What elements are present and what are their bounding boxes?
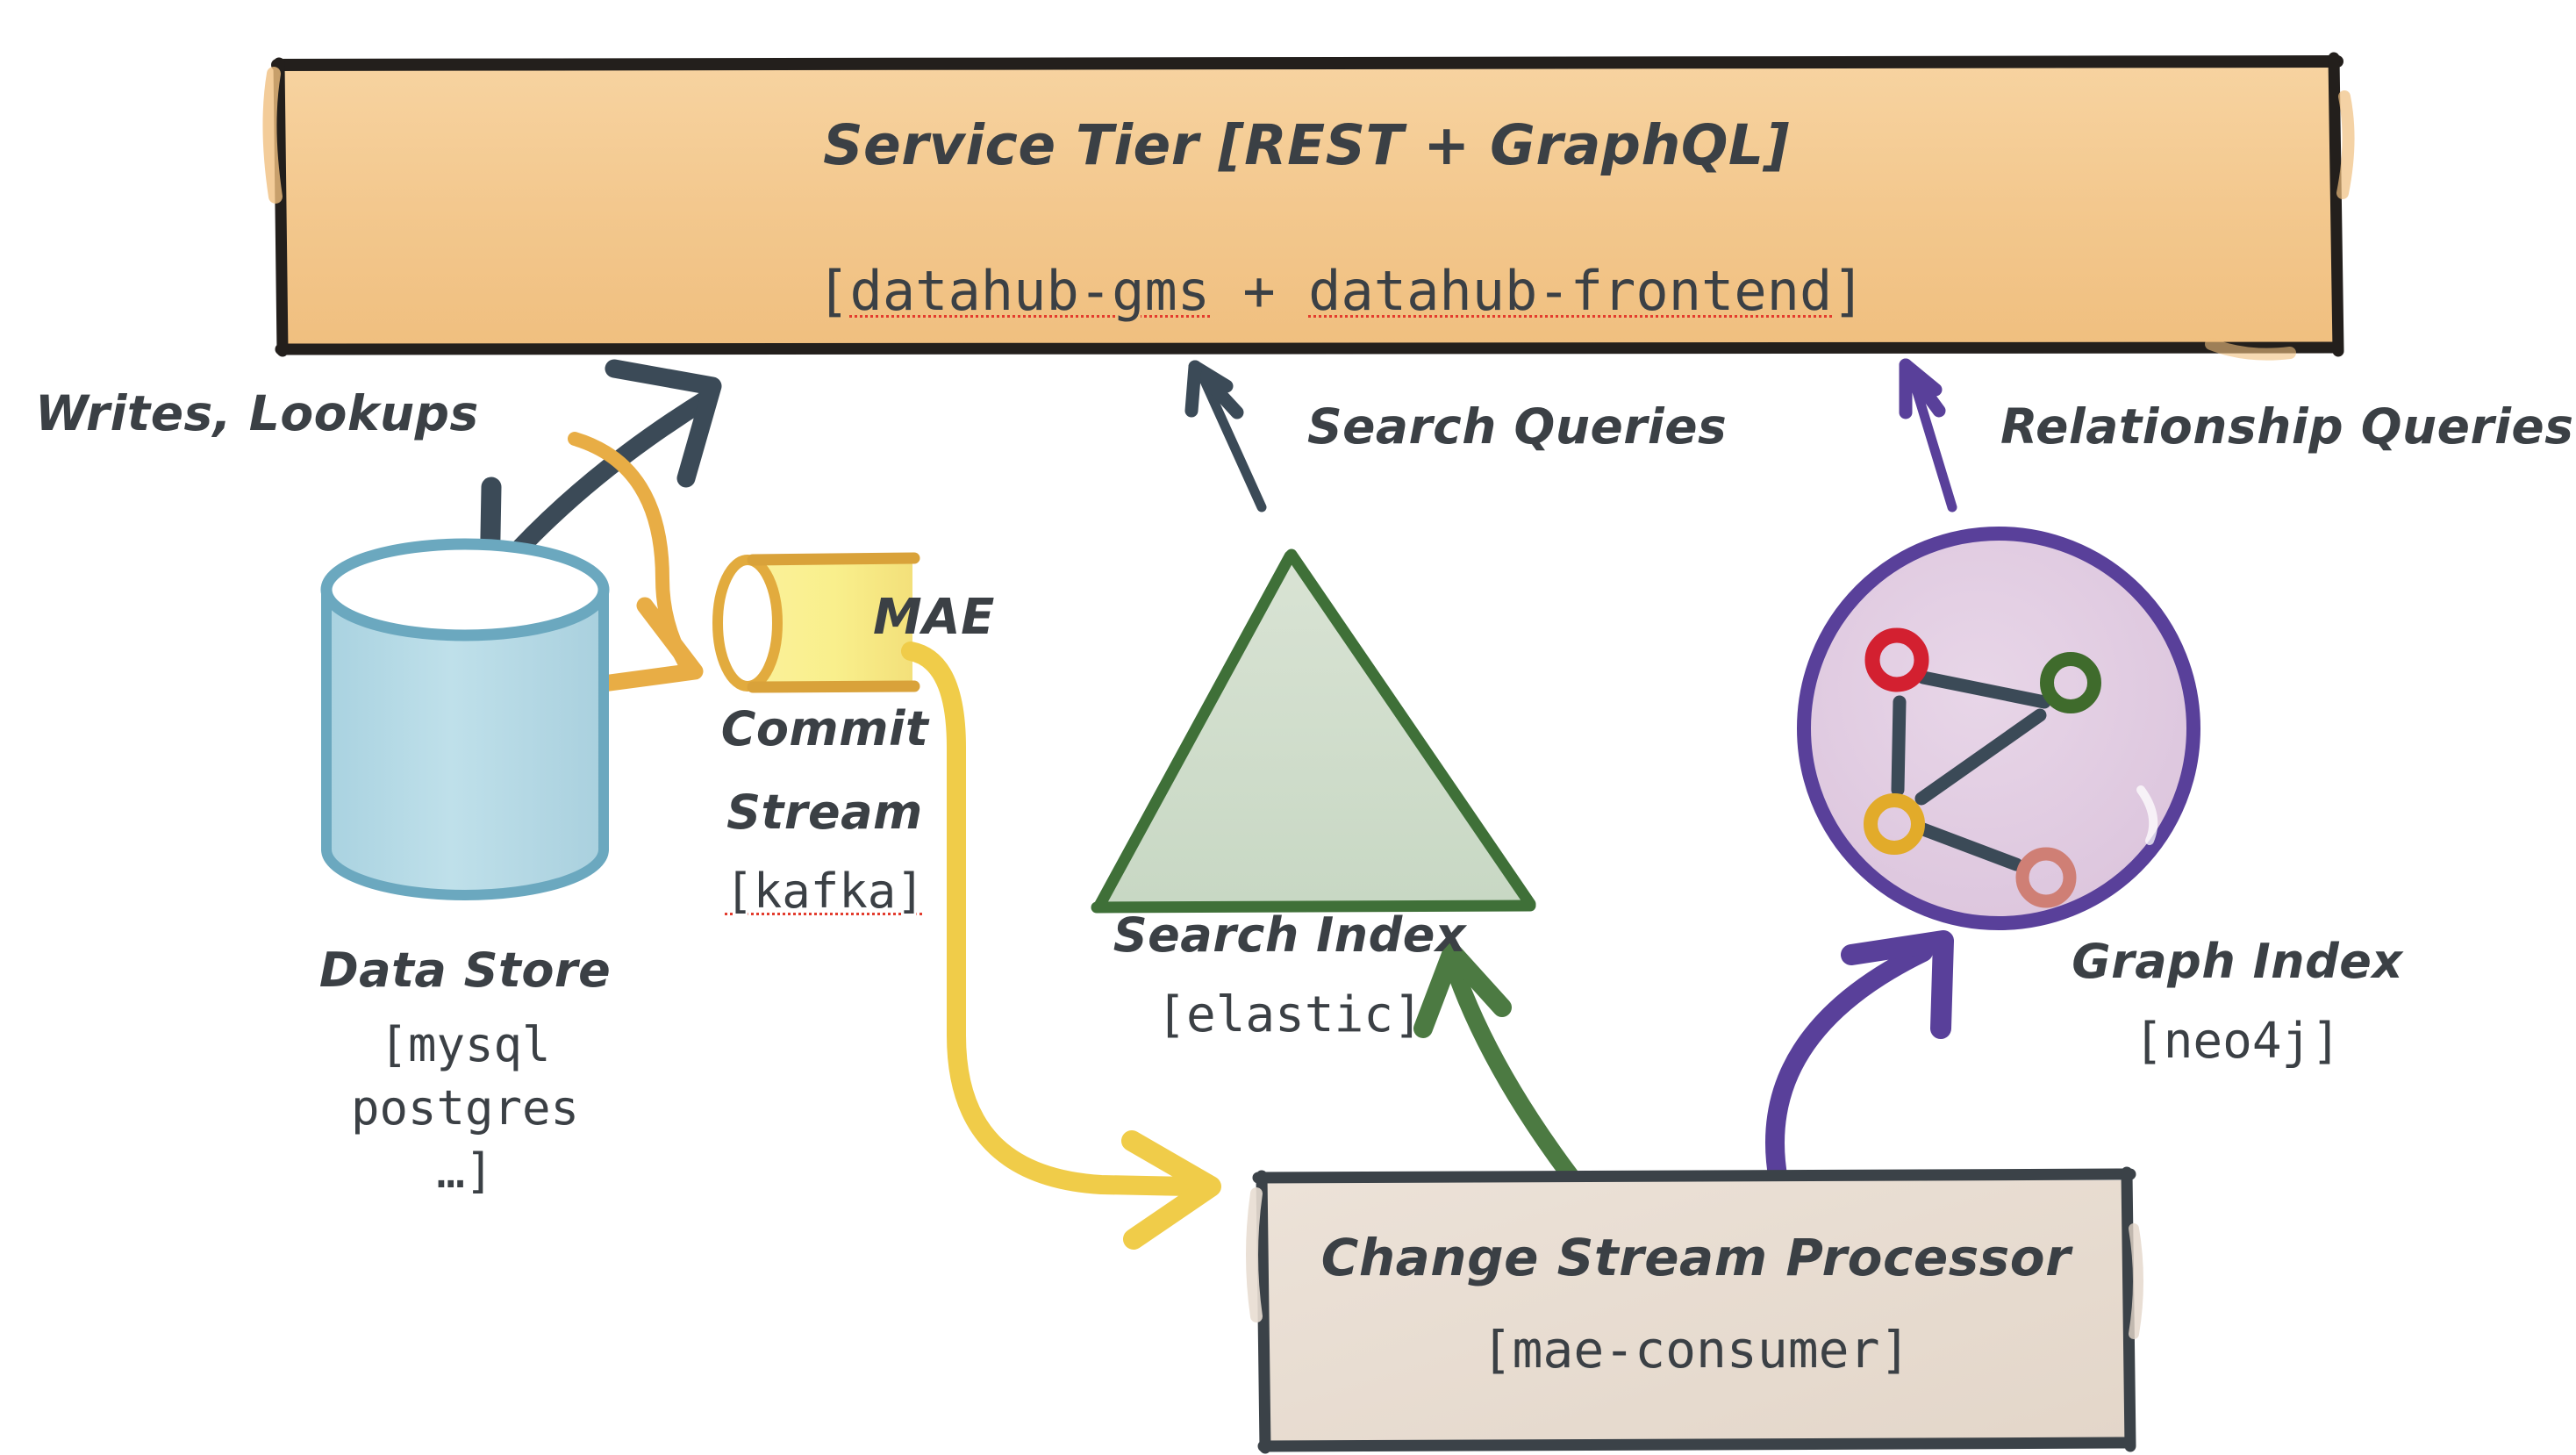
node-data-store bbox=[326, 544, 604, 895]
data-store-tech-line2: postgres bbox=[263, 1081, 667, 1136]
service-component-gms: datahub-gms bbox=[850, 259, 1211, 323]
search-index-tech: [elastic] bbox=[1062, 987, 1518, 1043]
edge-relationship-queries bbox=[1906, 365, 1952, 507]
service-tier-components: [datahub-gms + datahub-frontend] bbox=[279, 197, 2334, 385]
architecture-diagram: Service Tier [REST + GraphQL] [datahub-g… bbox=[0, 0, 2576, 1455]
edge-label-relationship-queries: Relationship Queries bbox=[2000, 399, 2573, 455]
edge-consumer-to-graph bbox=[1775, 941, 1943, 1180]
search-index-label: Search Index bbox=[1062, 908, 1518, 963]
node-graph-index bbox=[1804, 534, 2193, 923]
node-change-stream-processor bbox=[1252, 1172, 2138, 1448]
bracket-close: ] bbox=[1832, 259, 1864, 323]
commit-stream-label-line2: Stream bbox=[693, 785, 956, 840]
service-component-frontend: datahub-frontend bbox=[1308, 259, 1832, 323]
change-stream-processor-label: Change Stream Processor bbox=[1262, 1229, 2130, 1287]
change-stream-processor-tech: [mae-consumer] bbox=[1262, 1321, 2130, 1380]
graph-index-tech: [neo4j] bbox=[2009, 1014, 2465, 1070]
node-search-index bbox=[1097, 555, 1530, 907]
data-store-tech-line1: [mysql bbox=[263, 1018, 667, 1072]
edge-label-writes-lookups: Writes, Lookups bbox=[35, 386, 479, 441]
data-store-label: Data Store bbox=[263, 943, 667, 998]
service-tier-title: Service Tier [REST + GraphQL] bbox=[279, 114, 2334, 177]
mae-badge-label: MAE bbox=[873, 590, 995, 646]
service-components-plus: + bbox=[1210, 259, 1308, 323]
edge-consumer-to-search bbox=[1423, 952, 1571, 1176]
commit-stream-label-line1: Commit bbox=[693, 702, 956, 756]
graph-index-label: Graph Index bbox=[2009, 935, 2465, 989]
data-store-tech-line3: …] bbox=[263, 1144, 667, 1199]
bracket-open: [ bbox=[817, 259, 849, 323]
edge-search-queries bbox=[1191, 367, 1262, 507]
edge-label-search-queries: Search Queries bbox=[1307, 399, 1727, 455]
commit-stream-tech: [kafka] bbox=[693, 864, 956, 919]
